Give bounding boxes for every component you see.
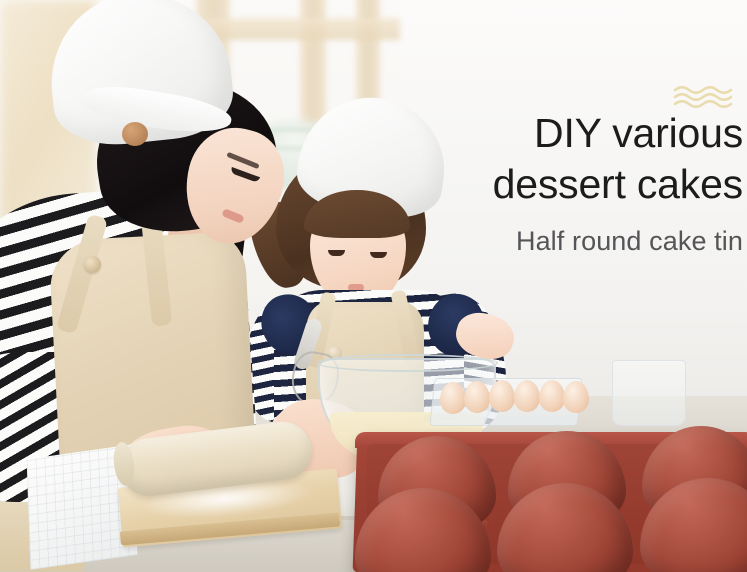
woman-apron-button (84, 256, 101, 273)
kitchen-scene-photo: SILICONE (0, 0, 747, 572)
egg (563, 381, 589, 413)
mixing-bowl-rim (316, 354, 498, 372)
egg (464, 381, 490, 413)
woman-hair-tie (122, 122, 148, 146)
glass-measuring-cup (612, 360, 686, 426)
egg (489, 380, 515, 412)
product-banner: SILICONE DIY various dessert cakes Half … (0, 0, 747, 572)
egg (514, 380, 540, 412)
egg (440, 382, 466, 414)
egg (539, 380, 565, 412)
